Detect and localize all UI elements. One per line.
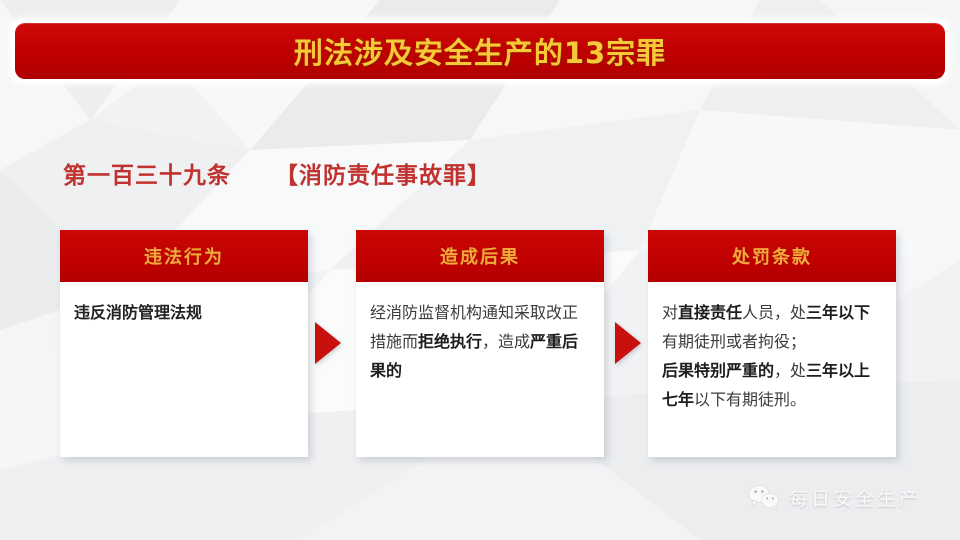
card-violation-header-label: 违法行为 bbox=[144, 243, 224, 269]
title-banner-fill: 刑法涉及安全生产的13宗罪 bbox=[15, 23, 945, 79]
card-violation-header: 违法行为 bbox=[60, 230, 308, 282]
card-consequence-header: 造成后果 bbox=[356, 230, 604, 282]
card-consequence: 造成后果 经消防监督机构通知采取改正措施而拒绝执行，造成严重后果的 bbox=[356, 230, 604, 457]
article-number: 第一百三十九条 bbox=[63, 163, 231, 189]
card-penalty-body: 对直接责任人员，处三年以下有期徒刑或者拘役；后果特别严重的，处三年以上七年以下有… bbox=[648, 282, 896, 424]
card-violation: 违法行为 违反消防管理法规 bbox=[60, 230, 308, 457]
card-penalty-header: 处罚条款 bbox=[648, 230, 896, 282]
watermark-text: 每日安全生产 bbox=[789, 484, 921, 511]
card-penalty-header-label: 处罚条款 bbox=[732, 243, 812, 269]
article-crime-name: 【消防责任事故罪】 bbox=[275, 163, 491, 189]
arrow-card2-to-card3 bbox=[615, 322, 641, 364]
card-consequence-header-label: 造成后果 bbox=[440, 243, 520, 269]
arrow-card1-to-card2 bbox=[315, 322, 341, 364]
card-violation-body: 违反消防管理法规 bbox=[60, 282, 308, 337]
title-banner: 刑法涉及安全生产的13宗罪 bbox=[12, 20, 948, 82]
card-penalty: 处罚条款 对直接责任人员，处三年以下有期徒刑或者拘役；后果特别严重的，处三年以上… bbox=[648, 230, 896, 457]
page-title: 刑法涉及安全生产的13宗罪 bbox=[294, 30, 666, 72]
wechat-icon bbox=[748, 484, 780, 511]
card-consequence-body: 经消防监督机构通知采取改正措施而拒绝执行，造成严重后果的 bbox=[356, 282, 604, 395]
article-subtitle: 第一百三十九条 【消防责任事故罪】 bbox=[63, 156, 491, 190]
slide-canvas: 刑法涉及安全生产的13宗罪 第一百三十九条 【消防责任事故罪】 违法行为 违反消… bbox=[0, 0, 960, 540]
watermark: 每日安全生产 bbox=[748, 484, 921, 511]
